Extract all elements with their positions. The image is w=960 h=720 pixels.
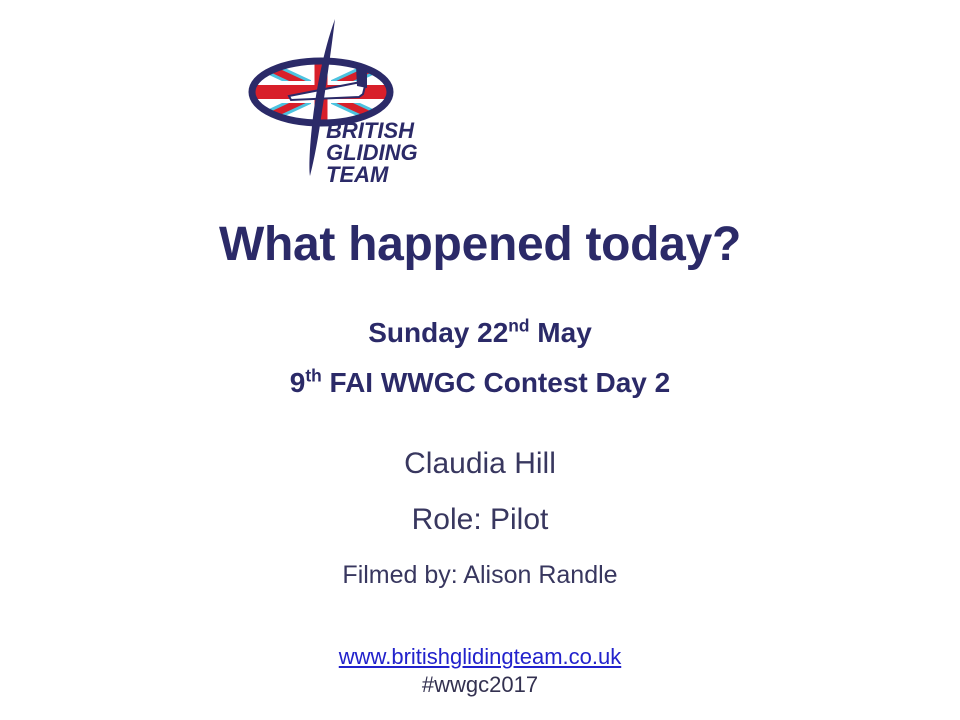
page-title: What happened today?: [0, 200, 960, 274]
person-role: Role: Pilot: [0, 482, 960, 538]
slide-footer: www.britishglidingteam.co.uk #wwgc2017: [0, 644, 960, 698]
event-contest-suffix: FAI WWGC Contest Day 2: [322, 367, 670, 398]
website-link[interactable]: www.britishglidingteam.co.uk: [339, 644, 621, 670]
event-date-ordinal: nd: [508, 316, 529, 336]
event-contest-line: 9th FAI WWGC Contest Day 2: [0, 350, 960, 400]
event-date-suffix: May: [530, 317, 592, 348]
british-gliding-team-logo: BRITISH GLIDING TEAM: [243, 14, 428, 189]
hashtag: #wwgc2017: [0, 670, 960, 698]
event-date-line: Sunday 22nd May: [0, 274, 960, 350]
presentation-slide: BRITISH GLIDING TEAM What happened today…: [0, 0, 960, 720]
person-name: Claudia Hill: [0, 400, 960, 482]
slide-text-stack: What happened today? Sunday 22nd May 9th…: [0, 200, 960, 590]
filmed-by: Filmed by: Alison Randle: [0, 538, 960, 590]
logo-icon: BRITISH GLIDING TEAM: [243, 14, 428, 189]
event-contest-prefix: 9: [290, 367, 306, 398]
event-date-prefix: Sunday 22: [368, 317, 508, 348]
logo-wordmark-line-3: TEAM: [326, 162, 389, 187]
event-contest-ordinal: th: [305, 366, 321, 386]
